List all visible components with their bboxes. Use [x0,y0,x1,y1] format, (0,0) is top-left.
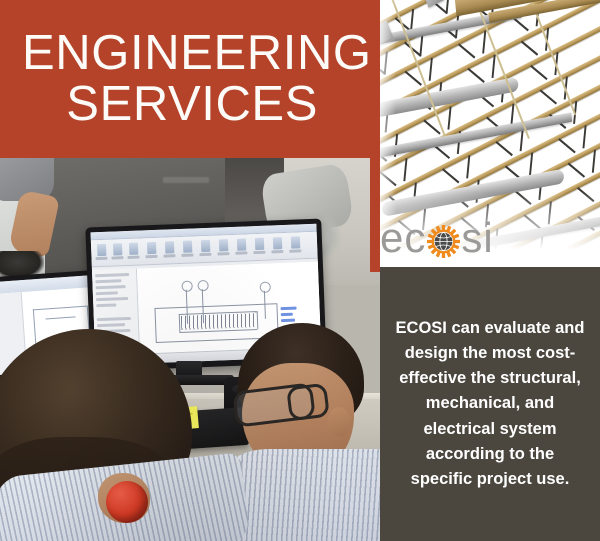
monitor-brand-mark [163,177,209,183]
description-text: ECOSI can evaluate and design the most c… [380,316,600,492]
logo-text-before: ec [380,217,426,259]
page-subtitle: SERVICES [0,79,370,130]
gear-globe-icon [427,225,460,258]
title-banner: ENGINEERING SERVICES [0,0,370,158]
page-title: ENGINEERING [0,28,370,79]
red-apple [106,481,148,523]
eyeglasses-right-lens [286,383,330,422]
ecosi-logo[interactable]: ec [380,212,530,264]
title-line-1: ENGINEERING [22,26,372,80]
description-panel: ECOSI can evaluate and design the most c… [380,267,600,541]
logo-text-after: si [461,217,493,259]
engineering-services-poster: ENGINEERING SERVICES ec [0,0,600,541]
title-line-2: SERVICES [66,77,318,131]
office-photo [0,155,380,541]
mans-ear [328,407,350,437]
man-with-glasses [182,323,380,541]
